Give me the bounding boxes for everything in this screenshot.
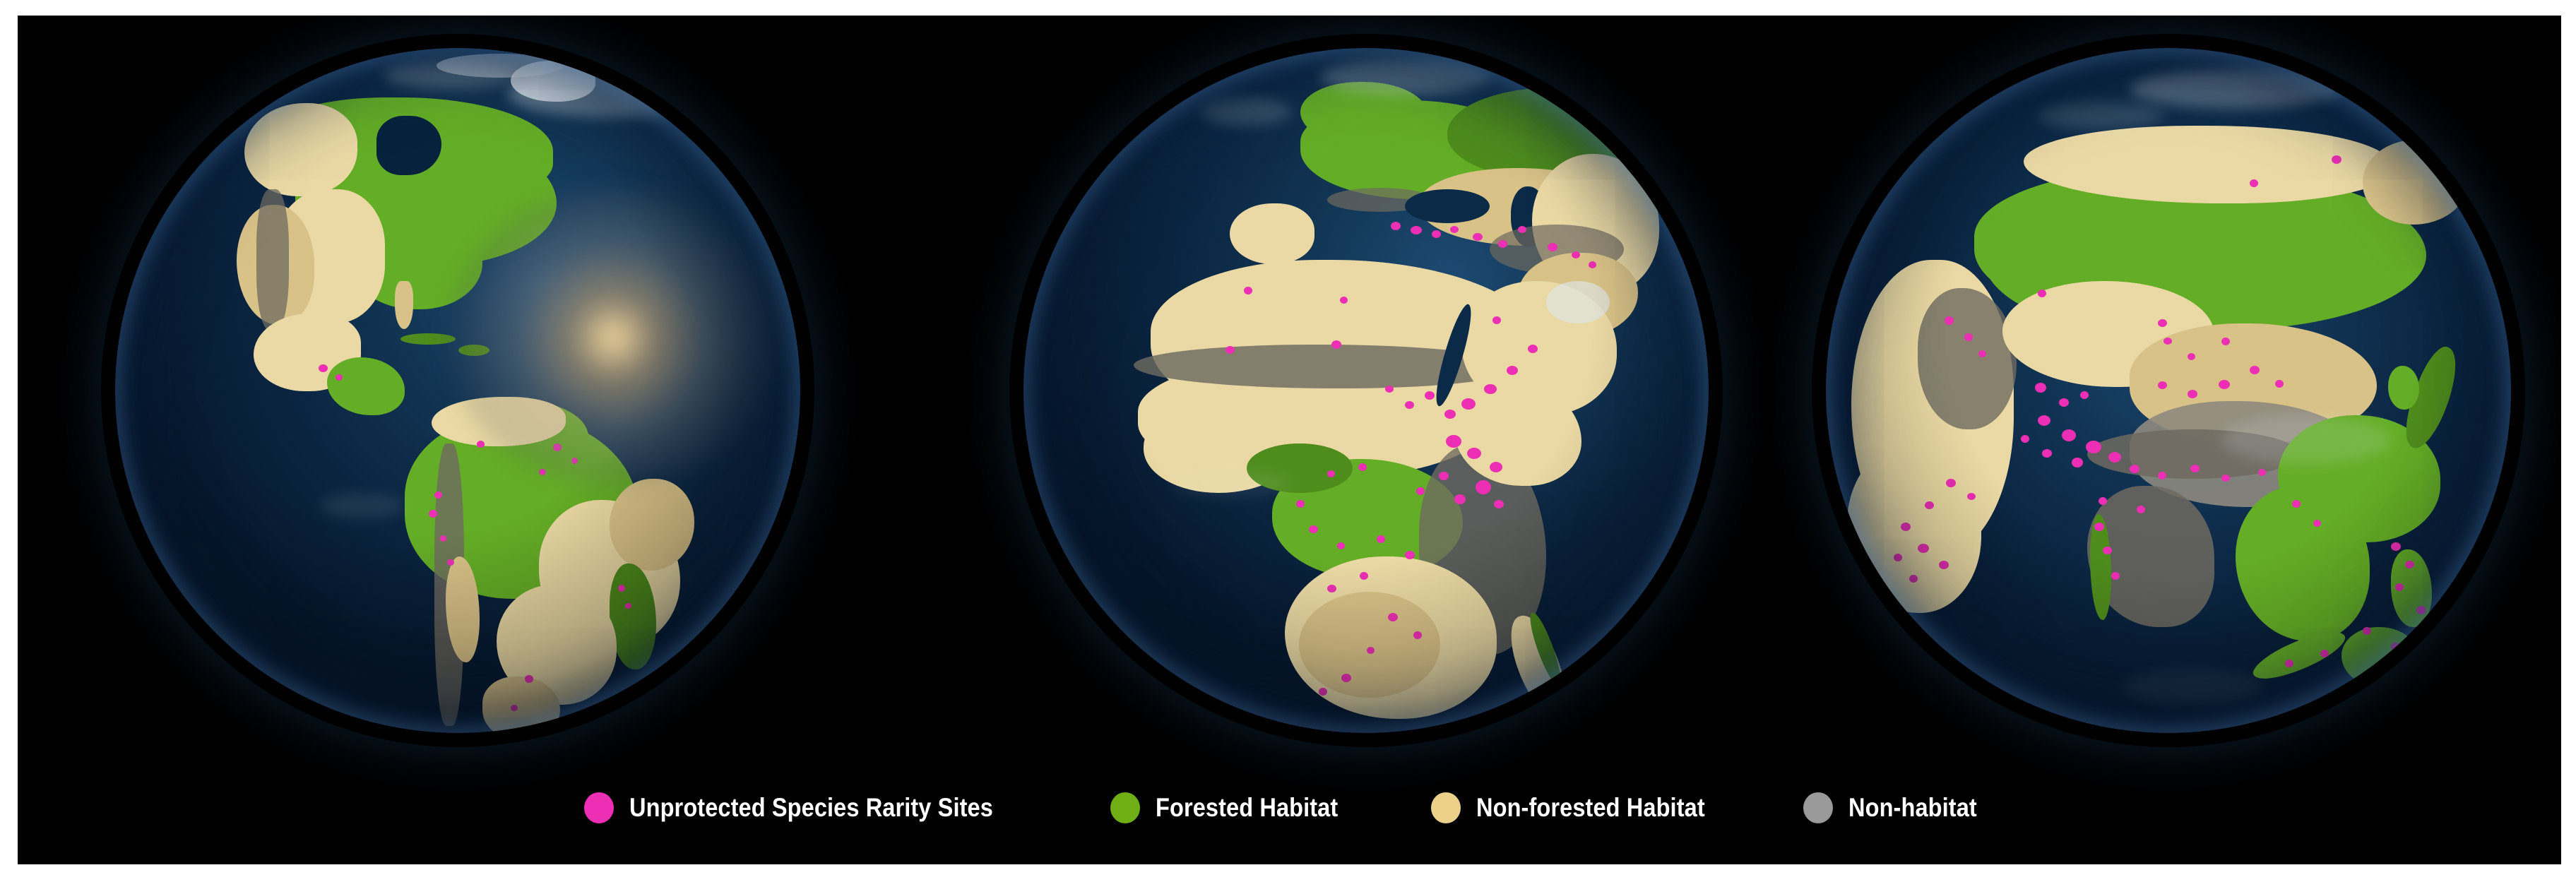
site-marker bbox=[2158, 381, 2167, 389]
site-marker bbox=[2038, 415, 2050, 426]
legend-item-forested-habitat[interactable]: Forested Habitat bbox=[1110, 792, 1363, 823]
legend-label: Non-habitat bbox=[1848, 793, 1977, 823]
globe-africa-europe bbox=[1023, 48, 1709, 733]
site-marker bbox=[2395, 583, 2404, 591]
site-marker bbox=[2072, 458, 2083, 467]
site-marker bbox=[2158, 319, 2167, 327]
site-marker bbox=[2416, 606, 2426, 614]
legend-item-non-forested-habitat[interactable]: Non-forested Habitat bbox=[1431, 792, 1736, 823]
site-marker bbox=[1967, 493, 1976, 500]
site-marker bbox=[1405, 551, 1415, 559]
site-marker bbox=[2080, 391, 2089, 399]
site-marker bbox=[2103, 547, 2112, 554]
site-marker bbox=[1413, 631, 1422, 639]
site-marker bbox=[2219, 380, 2230, 389]
site-marker bbox=[2250, 366, 2260, 374]
site-marker bbox=[2111, 572, 2120, 580]
site-marker bbox=[2391, 643, 2400, 650]
figure-panel: Unprotected Species Rarity Sites Foreste… bbox=[18, 16, 2561, 864]
site-marker bbox=[1446, 435, 1461, 448]
site-marker bbox=[2042, 449, 2052, 458]
site-marker bbox=[1367, 647, 1375, 654]
site-marker bbox=[511, 705, 518, 711]
iberia bbox=[1230, 203, 1314, 264]
site-marker bbox=[1498, 240, 1507, 248]
site-marker bbox=[477, 441, 485, 448]
cloud-indian-ocean bbox=[2123, 669, 2264, 705]
site-marker bbox=[2285, 660, 2293, 667]
site-marker bbox=[1388, 613, 1398, 621]
site-marker bbox=[2447, 667, 2457, 675]
site-marker bbox=[1946, 479, 1956, 487]
site-marker bbox=[1548, 243, 1557, 251]
site-marker bbox=[2158, 472, 2166, 479]
legend-item-unprotected-species-rarity-sites[interactable]: Unprotected Species Rarity Sites bbox=[584, 792, 1043, 823]
site-marker bbox=[2221, 338, 2230, 345]
site-marker bbox=[1964, 333, 1973, 341]
site-marker bbox=[1518, 226, 1526, 233]
legend-swatch-icon bbox=[1110, 792, 1140, 823]
site-marker bbox=[1439, 472, 1449, 480]
site-marker bbox=[1918, 544, 1929, 553]
site-marker bbox=[2275, 380, 2284, 388]
site-marker bbox=[2188, 353, 2195, 360]
legend-label: Non-forested Habitat bbox=[1476, 793, 1705, 823]
site-marker bbox=[1319, 688, 1327, 696]
site-marker bbox=[2250, 179, 2258, 187]
cloud-itcz bbox=[1172, 469, 1292, 497]
korea bbox=[2388, 366, 2419, 410]
sun-glint-atlantic bbox=[447, 189, 779, 486]
site-marker bbox=[1925, 501, 1934, 509]
site-marker bbox=[2391, 542, 2401, 551]
site-marker bbox=[2062, 429, 2076, 441]
globe-asia bbox=[1826, 48, 2511, 733]
cloud-arctic bbox=[384, 61, 518, 89]
site-marker bbox=[2038, 290, 2046, 297]
site-marker bbox=[1405, 401, 1414, 409]
site-marker bbox=[1461, 398, 1476, 410]
site-marker bbox=[2188, 390, 2197, 398]
cloud-tibet bbox=[2221, 415, 2391, 465]
new-guinea bbox=[2416, 662, 2511, 717]
florida bbox=[395, 281, 413, 329]
site-marker bbox=[1476, 480, 1491, 494]
persian-gulf-haze bbox=[1546, 281, 1610, 323]
site-marker bbox=[1331, 340, 1341, 349]
site-marker bbox=[625, 603, 631, 609]
canada-tundra bbox=[244, 103, 357, 196]
site-marker bbox=[1309, 525, 1318, 533]
site-marker bbox=[440, 535, 446, 542]
site-marker bbox=[1416, 487, 1425, 495]
kalahari bbox=[1299, 592, 1440, 698]
site-marker bbox=[2221, 475, 2230, 482]
site-marker bbox=[1444, 410, 1456, 419]
site-marker bbox=[1939, 561, 1949, 569]
site-marker bbox=[1978, 350, 1986, 357]
site-marker bbox=[1901, 523, 1911, 531]
site-marker bbox=[1492, 316, 1501, 324]
legend-label: Unprotected Species Rarity Sites bbox=[629, 793, 993, 823]
site-marker bbox=[618, 585, 625, 592]
map-legend: Unprotected Species Rarity Sites Foreste… bbox=[18, 792, 2561, 823]
site-marker bbox=[2099, 497, 2107, 505]
site-marker bbox=[1425, 391, 1435, 400]
site-marker bbox=[1391, 222, 1401, 230]
site-marker bbox=[2258, 469, 2266, 476]
site-marker bbox=[1494, 500, 1504, 508]
site-marker bbox=[2021, 435, 2029, 443]
site-marker bbox=[1894, 554, 1902, 561]
site-marker bbox=[1467, 448, 1481, 459]
site-marker bbox=[1507, 366, 1518, 375]
site-marker bbox=[1411, 226, 1422, 234]
site-marker bbox=[2313, 520, 2321, 527]
legend-label: Forested Habitat bbox=[1156, 793, 1338, 823]
site-marker bbox=[1589, 261, 1596, 268]
cloud-arctic-asia bbox=[2130, 69, 2341, 109]
site-marker bbox=[429, 510, 437, 518]
site-marker bbox=[1385, 386, 1394, 393]
site-marker bbox=[1909, 575, 1918, 583]
legend-item-non-habitat[interactable]: Non-habitat bbox=[1803, 792, 1995, 823]
site-marker bbox=[1360, 572, 1368, 580]
site-marker bbox=[319, 364, 328, 372]
site-marker bbox=[1244, 287, 1252, 294]
site-marker bbox=[1327, 470, 1335, 477]
rocky-mountains bbox=[256, 189, 289, 330]
site-marker bbox=[1490, 462, 1502, 472]
site-marker bbox=[2469, 681, 2477, 689]
site-marker bbox=[1377, 535, 1385, 543]
site-marker bbox=[1358, 463, 1367, 471]
globe-americas bbox=[115, 48, 800, 733]
site-marker bbox=[1341, 674, 1351, 682]
cloud-pacific bbox=[320, 493, 405, 518]
site-marker bbox=[336, 374, 343, 381]
site-marker bbox=[1225, 346, 1235, 354]
cloud-north-europe bbox=[1320, 59, 1490, 95]
site-marker bbox=[2108, 452, 2121, 463]
site-marker bbox=[525, 675, 533, 683]
cloud-atlantic-nw bbox=[1200, 97, 1292, 126]
legend-swatch-icon bbox=[1803, 792, 1833, 823]
site-marker bbox=[1337, 542, 1345, 549]
site-marker bbox=[447, 559, 454, 566]
site-marker bbox=[1528, 345, 1538, 353]
site-marker bbox=[2363, 627, 2371, 635]
site-marker bbox=[2190, 465, 2200, 472]
site-marker bbox=[1945, 316, 1954, 325]
site-marker bbox=[1432, 230, 1441, 238]
australia-limb bbox=[2320, 712, 2504, 733]
site-marker bbox=[2130, 465, 2139, 473]
site-marker bbox=[1296, 500, 1305, 508]
site-marker bbox=[2320, 650, 2329, 657]
legend-swatch-icon bbox=[584, 792, 614, 823]
cloud-siberia-north bbox=[2038, 102, 2165, 130]
site-marker bbox=[1572, 251, 1580, 258]
site-marker bbox=[2086, 441, 2101, 453]
site-marker bbox=[1473, 233, 1483, 241]
site-marker bbox=[1340, 297, 1348, 304]
cloud-north-atlantic bbox=[508, 69, 720, 117]
site-marker bbox=[2405, 561, 2414, 568]
site-marker bbox=[2094, 523, 2104, 531]
site-marker bbox=[2164, 338, 2172, 345]
site-marker bbox=[2137, 506, 2145, 513]
arabian-limb bbox=[1847, 443, 1981, 613]
site-marker bbox=[1327, 585, 1336, 592]
site-marker bbox=[1454, 494, 1466, 504]
site-marker bbox=[2292, 500, 2301, 508]
site-marker bbox=[1450, 226, 1459, 233]
site-marker bbox=[2035, 383, 2046, 393]
legend-swatch-icon bbox=[1431, 792, 1461, 823]
black-sea bbox=[1405, 189, 1490, 223]
site-marker bbox=[2332, 155, 2341, 164]
site-marker bbox=[2059, 398, 2069, 407]
site-marker bbox=[434, 491, 442, 499]
site-marker bbox=[1484, 384, 1497, 394]
